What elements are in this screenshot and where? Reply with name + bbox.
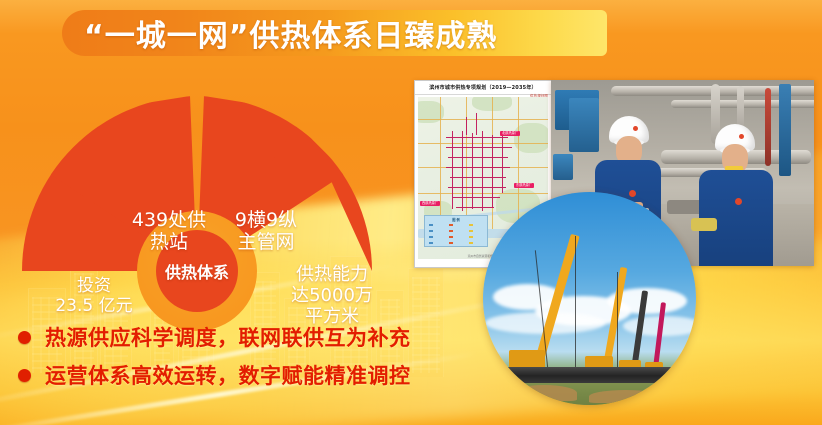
slide-title-bar: “一城一网”供热体系日臻成熟	[62, 10, 607, 56]
map-label-1: 西部热源厂	[420, 201, 440, 206]
donut-label-stations: 439处供 热站	[110, 209, 228, 254]
pipeline-segment	[483, 367, 696, 383]
bullet-dot-icon	[18, 331, 31, 344]
donut-label-investment: 投资 23.5 亿元	[40, 276, 148, 316]
bullet-dot-icon	[18, 369, 31, 382]
map-label-0: 北部热源厂	[500, 131, 520, 136]
page-title: “一城一网”供热体系日臻成熟	[84, 11, 497, 55]
map-pipe-network	[446, 131, 514, 213]
map-legend-title: 图 例	[425, 217, 487, 222]
map-label-2: 东部热源厂	[514, 183, 534, 188]
slide-root: “一城一网”供热体系日臻成熟 供热体系 投资 23.5 亿元 439处供 热站 …	[0, 0, 822, 425]
photo-pipeline-cranes	[483, 192, 696, 405]
bullet-text-1: 运营体系高效运转，数字赋能精准调控	[45, 360, 411, 390]
donut-label-network: 9横9纵 主管网	[212, 209, 320, 254]
donut-center-label: 供热体系	[165, 259, 229, 283]
heating-system-donut-chart: 供热体系 投资 23.5 亿元 439处供 热站 9横9纵 主管网 供热能力 达…	[22, 96, 372, 271]
map-legend: 图 例	[424, 215, 488, 247]
bullet-text-0: 热源供应科学调度，联网联供互为补充	[45, 322, 411, 352]
list-item: 运营体系高效运转，数字赋能精准调控	[18, 360, 488, 390]
list-item: 热源供应科学调度，联网联供互为补充	[18, 322, 488, 352]
donut-label-capacity: 供热能力 达5000万 平方米	[272, 264, 392, 328]
key-points-list: 热源供应科学调度，联网联供互为补充 运营体系高效运转，数字赋能精准调控	[18, 322, 488, 398]
map-title: 滨州市城市供热专项规划（2019—2035年）	[415, 81, 551, 95]
